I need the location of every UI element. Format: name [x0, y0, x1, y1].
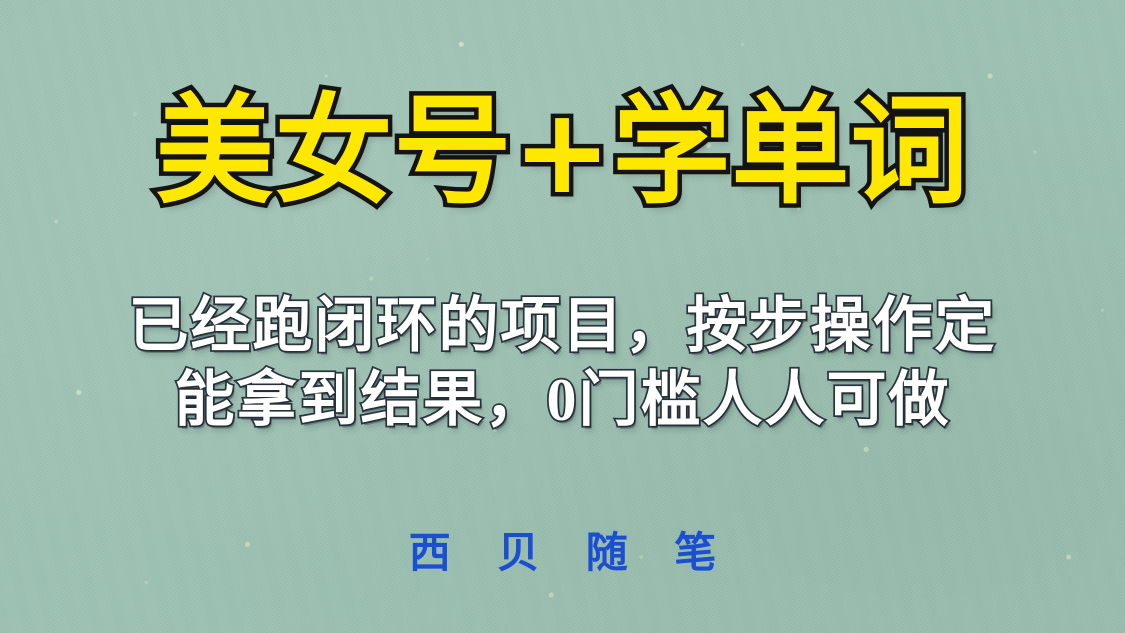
subtitle-line-2: 能拿到结果，0门槛人人可做 — [0, 363, 1125, 437]
subtitle-block: 已经跑闭环的项目，按步操作定 能拿到结果，0门槛人人可做 — [0, 289, 1125, 437]
footer-block: 西 贝 随 笔 — [0, 529, 1125, 579]
page-title: 美女号+学单词 — [156, 92, 970, 210]
author-signature: 西 贝 随 笔 — [391, 529, 735, 579]
poster-canvas: 美女号+学单词 已经跑闭环的项目，按步操作定 能拿到结果，0门槛人人可做 西 贝… — [0, 0, 1125, 633]
subtitle-line-1: 已经跑闭环的项目，按步操作定 — [0, 289, 1125, 363]
title-block: 美女号+学单词 — [0, 92, 1125, 210]
